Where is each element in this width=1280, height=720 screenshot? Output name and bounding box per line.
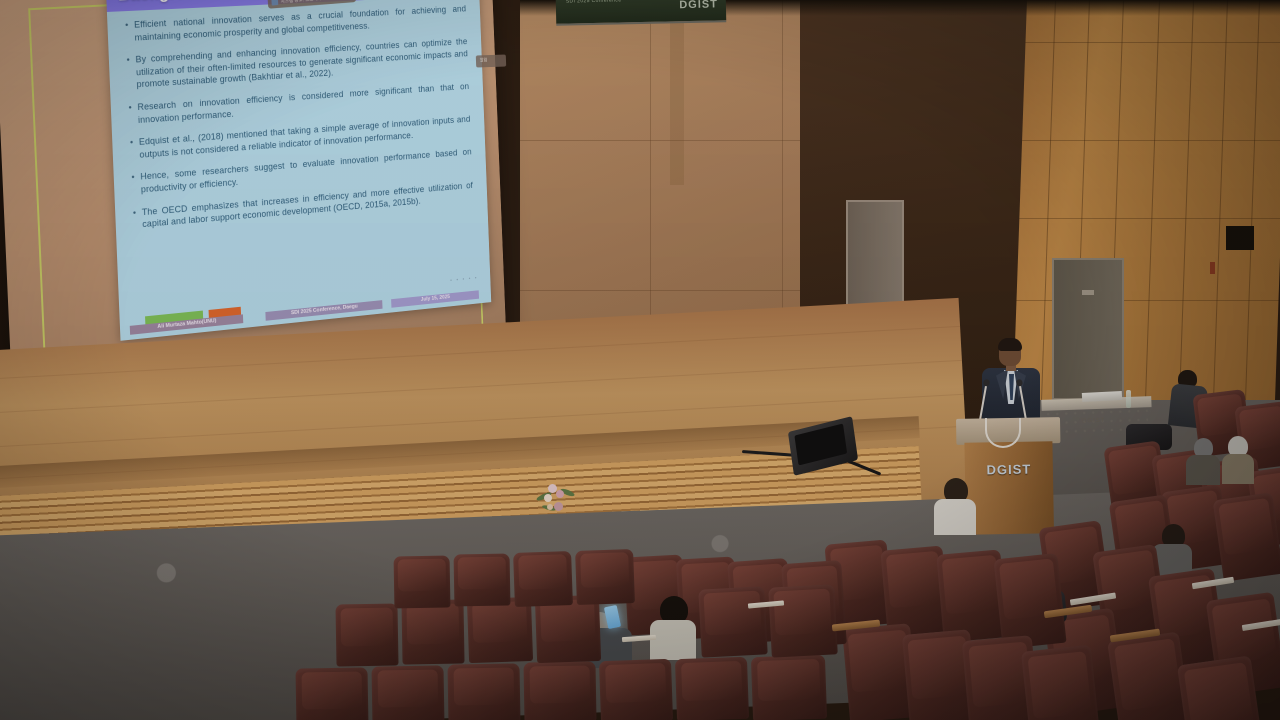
seat[interactable]	[523, 661, 596, 720]
seating-area	[0, 0, 1280, 720]
audience-body	[1222, 454, 1254, 484]
auditorium-scene: SDI 2025 Conference DGIST Background • E…	[0, 0, 1280, 720]
audience-body	[1186, 455, 1220, 485]
audience-person	[1222, 436, 1254, 480]
audience-body	[650, 620, 696, 660]
seat[interactable]	[993, 553, 1066, 649]
seat[interactable]	[513, 551, 573, 607]
seat[interactable]	[295, 667, 368, 720]
seat[interactable]	[447, 663, 520, 720]
seat[interactable]	[394, 556, 451, 609]
audience-body	[934, 499, 976, 535]
seat[interactable]	[751, 655, 827, 720]
seat[interactable]	[698, 586, 767, 657]
seat[interactable]	[1213, 492, 1280, 582]
seat[interactable]	[575, 549, 635, 605]
seat[interactable]	[335, 603, 398, 666]
seat[interactable]	[768, 584, 838, 657]
seat[interactable]	[467, 597, 533, 663]
audience-person	[1186, 438, 1220, 482]
seat[interactable]	[401, 599, 464, 664]
seat[interactable]	[454, 554, 511, 607]
seat[interactable]	[371, 665, 444, 720]
audience-person	[934, 478, 976, 532]
audience-person	[650, 596, 696, 658]
seat[interactable]	[1021, 645, 1101, 720]
seat[interactable]	[675, 657, 749, 720]
seat[interactable]	[599, 659, 673, 720]
